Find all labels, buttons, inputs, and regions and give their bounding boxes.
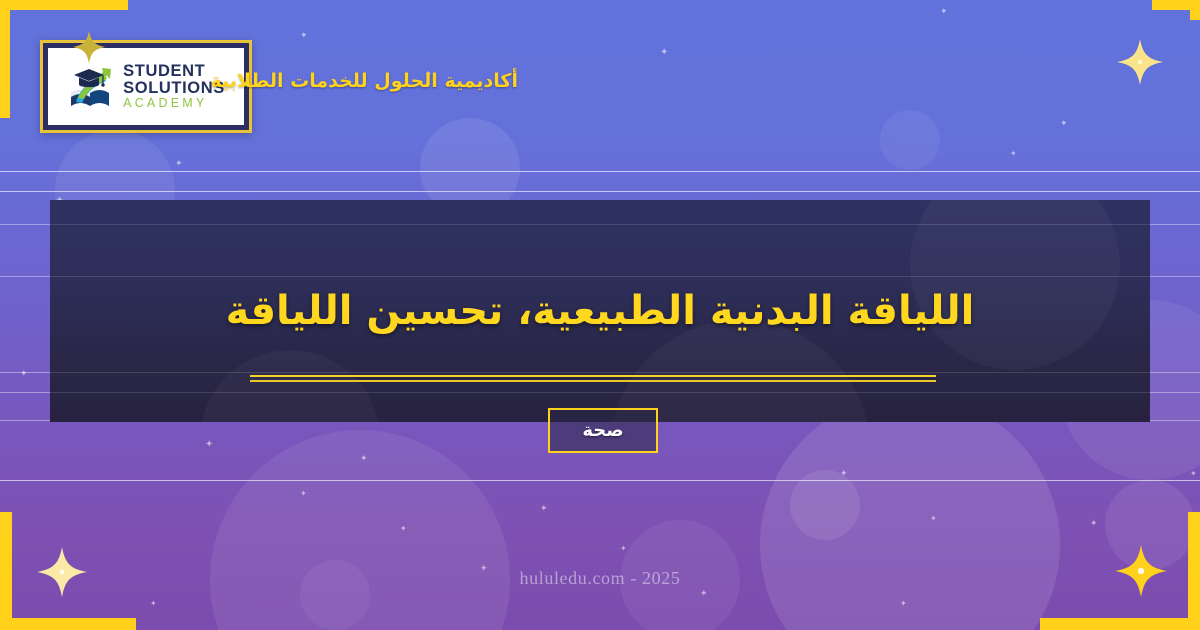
decor-circle — [910, 200, 1120, 370]
sparkle-icon: ✦ — [1090, 520, 1098, 529]
poster-canvas: ✦ ✦ ✦ ✦ ✦ ✦ ✦ ✦ ✦ ✦ ✦ ✦ ✦ ✦ ✦ ✦ ✦ ✦ ✦ ✦ … — [0, 0, 1200, 630]
sparkle-icon: ✦ — [1010, 150, 1017, 158]
decor-hline — [50, 392, 1150, 393]
decor-hline — [0, 480, 1200, 481]
sparkle-icon: ✦ — [150, 600, 157, 608]
sparkle-icon: ✦ — [1190, 470, 1197, 478]
decor-hline — [50, 372, 1150, 373]
decor-circle — [760, 395, 1060, 630]
sparkle-icon: ✦ — [840, 470, 848, 479]
sparkle-icon: ✦ — [175, 160, 183, 169]
star-top-right-icon — [1116, 38, 1164, 86]
sparkle-icon: ✦ — [660, 48, 668, 58]
decor-circle — [200, 350, 380, 422]
status-badge-label: صحة — [582, 420, 623, 441]
decor-hline — [50, 224, 1150, 225]
sparkle-icon: ✦ — [700, 590, 708, 599]
logo-line-1: STUDENT — [123, 63, 225, 80]
decor-hline — [50, 276, 1150, 277]
decor-circle — [1105, 480, 1195, 570]
sparkle-icon: ✦ — [400, 525, 407, 533]
decor-hline — [0, 171, 1200, 172]
page-title: اللياقة البدنية الطبيعية، تحسين اللياقة — [50, 288, 1150, 334]
sparkle-icon: ✦ — [1060, 120, 1068, 129]
decor-circle — [610, 320, 870, 422]
sparkle-icon: ✦ — [300, 32, 308, 41]
footer-text: hululedu.com - 2025 — [0, 568, 1200, 589]
sparkle-icon: ✦ — [300, 490, 307, 498]
sparkle-icon: ✦ — [540, 505, 548, 514]
sparkle-icon: ✦ — [940, 8, 948, 17]
sparkle-icon: ✦ — [930, 515, 937, 523]
logo-line-3: ACADEMY — [123, 97, 225, 110]
title-underline — [250, 375, 936, 382]
brand-arabic-name: أكاديمية الحلول للخدمات الطلابية — [258, 70, 518, 92]
logo-line-2: SOLUTIONS — [123, 80, 225, 97]
decor-circle — [880, 110, 940, 170]
sparkle-icon: ✦ — [620, 545, 627, 553]
sparkle-icon: ✦ — [360, 455, 368, 464]
sparkle-icon: ✦ — [205, 440, 213, 450]
graduation-cap-book-arrow-icon — [67, 62, 117, 112]
decor-hline — [0, 191, 1200, 192]
decor-circle — [210, 430, 510, 630]
sparkle-icon: ✦ — [900, 600, 907, 608]
status-badge[interactable]: صحة — [548, 408, 658, 453]
